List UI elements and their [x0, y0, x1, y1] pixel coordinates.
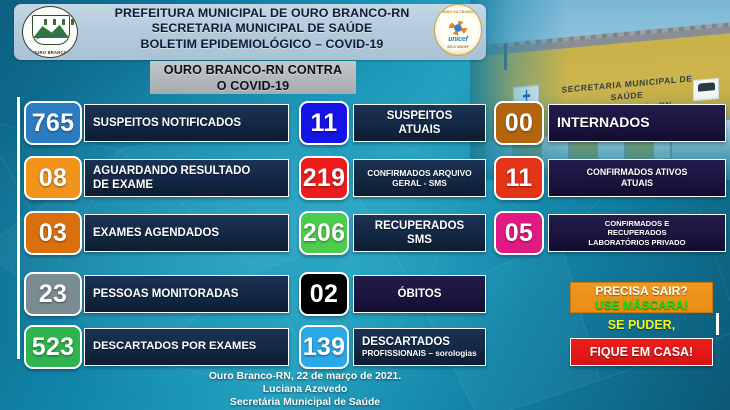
stat-label: PESSOAS MONITORADAS	[84, 275, 289, 313]
stat-label-line: RECUPERADOS	[607, 228, 666, 237]
crest-ring-text: OURO BRANCO	[23, 50, 77, 55]
stat-label: RECUPERADOSSMS	[353, 214, 486, 252]
cta-stay-home-banner: FIQUE EM CASA!	[570, 338, 713, 366]
footer-signature: Ouro Branco-RN, 22 de março de 2021. Luc…	[140, 370, 470, 410]
cta-tick-mark	[716, 313, 719, 335]
stat-label: EXAMES AGENDADOS	[84, 214, 289, 252]
cta-line-2: USE MÁSCARA!	[571, 298, 712, 312]
stat-badge: 523	[24, 325, 82, 369]
municipal-coat-of-arms-icon: OURO BRANCO	[22, 6, 78, 58]
stat-badge: 03	[24, 211, 82, 255]
seal-arc-text: AMIGO DA CRIANÇA	[435, 10, 481, 14]
seal-wordmark: unicef	[435, 36, 481, 43]
stat-badge: 08	[24, 156, 82, 200]
cta-line-1: PRECISA SAIR?	[571, 284, 712, 298]
stat-label-line: SUSPEITOS NOTIFICADOS	[93, 116, 241, 130]
photo-edge-fade	[470, 0, 730, 180]
title-line-2: SECRETARIA MUNICIPAL DE SAÚDE	[86, 21, 438, 36]
health-department-building-photo: SECRETARIA MUNICIPAL DE SAÚDE OURO BRANC…	[470, 0, 730, 180]
stat-badge: 11	[299, 101, 349, 145]
stat-label-line: LABORATÓRIOS PRIVADO	[588, 238, 685, 247]
stat-label-line: ATUAIS	[399, 123, 441, 137]
stat-label-line: DE EXAME	[93, 178, 153, 192]
cta-line-3: SE PUDER,	[570, 316, 713, 334]
stat-badge: 765	[24, 101, 82, 145]
cta-mask-banner: PRECISA SAIR? USE MÁSCARA!	[570, 282, 713, 313]
left-vertical-rail	[17, 97, 20, 359]
stat-label-line: RECUPERADOS	[375, 219, 464, 233]
stat-label-line: INTERNADOS	[557, 114, 650, 131]
stat-label: CONFIRMADOS ARQUIVOGERAL - SMS	[353, 159, 486, 197]
stat-label-line: AGUARDANDO RESULTADO	[93, 164, 250, 178]
stat-label-line: ATUAIS	[621, 178, 653, 189]
stat-badge: 11	[494, 156, 544, 200]
stat-label-line: PESSOAS MONITORADAS	[93, 287, 238, 301]
unicef-seal-icon: AMIGO DA CRIANÇA unicef SELO UNICEF	[434, 4, 482, 56]
footer-role: Secretária Municipal de Saúde	[140, 396, 470, 409]
subtitle-line-2: O COVID-19	[150, 78, 356, 94]
title-line-3: BOLETIM EPIDEMIOLÓGICO – COVID-19	[86, 37, 438, 52]
seal-globe	[449, 21, 467, 35]
stat-label-line: GERAL - SMS	[392, 178, 447, 188]
stat-label-line: DESCARTADOS	[362, 335, 450, 349]
stat-badge: 23	[24, 272, 82, 316]
stat-label: CONFIRMADOS ERECUPERADOSLABORATÓRIOS PRI…	[548, 214, 726, 252]
stat-badge: 219	[299, 156, 349, 200]
seal-subtext: SELO UNICEF	[435, 45, 481, 49]
stat-badge: 05	[494, 211, 544, 255]
stat-badge: 206	[299, 211, 349, 255]
stat-label: ÓBITOS	[353, 275, 486, 313]
stat-badge: 00	[494, 101, 544, 145]
stat-badge: 139	[299, 325, 349, 369]
stat-label-line: SUSPEITOS	[387, 109, 453, 123]
stat-label: DESCARTADOSPROFISSIONAIS – sorologias	[353, 328, 486, 366]
subtitle-line-1: OURO BRANCO-RN CONTRA	[150, 62, 356, 78]
stat-label-line: ÓBITOS	[398, 287, 442, 301]
stat-label: DESCARTADOS POR EXAMES	[84, 328, 289, 366]
stat-label-line: SMS	[407, 233, 432, 247]
crest-shield	[32, 15, 70, 45]
stat-label: CONFIRMADOS ATIVOSATUAIS	[548, 159, 726, 197]
subtitle-plate: OURO BRANCO-RN CONTRA O COVID-19	[150, 61, 356, 94]
stat-label-line: EXAMES AGENDADOS	[93, 226, 219, 240]
stat-label: SUSPEITOSATUAIS	[353, 104, 486, 142]
title-line-1: PREFEITURA MUNICIPAL DE OURO BRANCO-RN	[86, 6, 438, 21]
epidemiological-bulletin-poster: SECRETARIA MUNICIPAL DE SAÚDE OURO BRANC…	[0, 0, 730, 410]
crest-tips	[44, 19, 78, 25]
stat-label-line: CONFIRMADOS E	[605, 219, 670, 228]
stat-label: SUSPEITOS NOTIFICADOS	[84, 104, 289, 142]
stat-label: AGUARDANDO RESULTADODE EXAME	[84, 159, 289, 197]
stat-badge: 02	[299, 272, 349, 316]
stat-label-line: CONFIRMADOS ATIVOS	[587, 167, 688, 178]
footer-date: Ouro Branco-RN, 22 de março de 2021.	[140, 370, 470, 383]
stat-label-line: CONFIRMADOS ARQUIVO	[367, 168, 471, 178]
stat-label-line: PROFISSIONAIS – sorologias	[362, 349, 477, 359]
page-title: PREFEITURA MUNICIPAL DE OURO BRANCO-RN S…	[86, 6, 438, 52]
stat-label-line: DESCARTADOS POR EXAMES	[93, 340, 256, 354]
footer-author: Luciana Azevedo	[140, 383, 470, 396]
stat-label: INTERNADOS	[548, 104, 726, 142]
